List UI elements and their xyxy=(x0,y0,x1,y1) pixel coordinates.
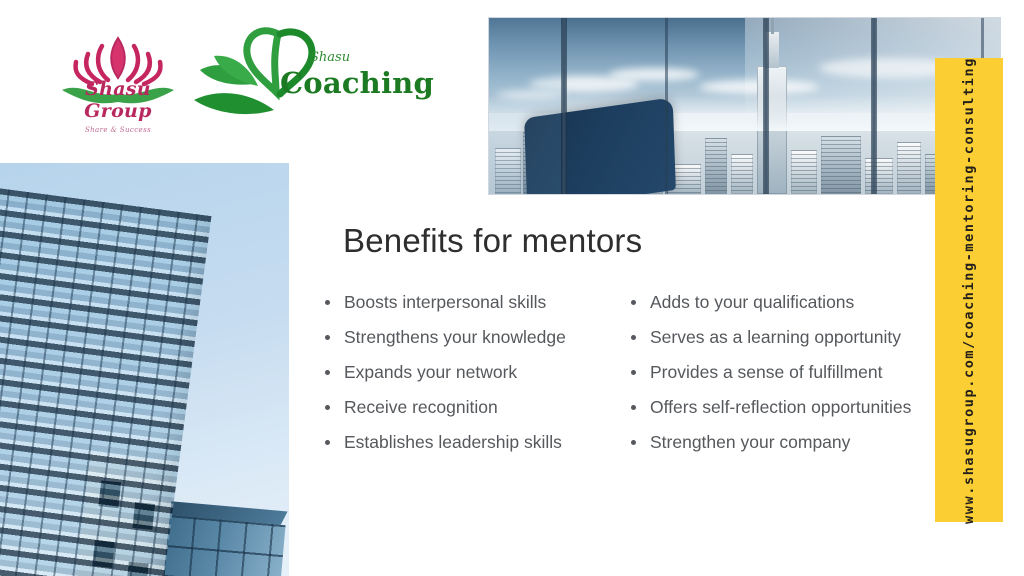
list-item: Expands your network xyxy=(322,358,590,387)
list-item: Boosts interpersonal skills xyxy=(322,288,590,317)
slide-canvas: www.shasugroup.com/coaching-mentoring-co… xyxy=(0,0,1024,576)
office-building-photo xyxy=(0,163,289,576)
page-title: Benefits for mentors xyxy=(343,222,642,260)
shasu-group-logo: Shasu Group Share & Success xyxy=(52,24,184,140)
website-url-banner: www.shasugroup.com/coaching-mentoring-co… xyxy=(935,58,1003,522)
benefits-left-list: Boosts interpersonal skills Strengthens … xyxy=(322,288,590,457)
list-item: Receive recognition xyxy=(322,393,590,422)
shasu-group-wordmark: Shasu Group xyxy=(54,78,182,122)
list-item: Offers self-reflection opportunities xyxy=(628,393,928,422)
website-url-text: www.shasugroup.com/coaching-mentoring-co… xyxy=(961,57,977,524)
list-item: Adds to your qualifications xyxy=(628,288,928,317)
list-item: Strengthen your company xyxy=(628,428,928,457)
logo-row: Shasu Group Share & Success Shasu Coachi… xyxy=(52,24,362,140)
list-item: Strengthens your knowledge xyxy=(322,323,590,352)
benefits-left-column: Boosts interpersonal skills Strengthens … xyxy=(322,288,590,463)
shasu-coaching-subword: Shasu xyxy=(310,50,350,65)
cityscape-photo xyxy=(489,18,1000,194)
benefits-right-list: Adds to your qualifications Serves as a … xyxy=(628,288,928,457)
list-item: Establishes leadership skills xyxy=(322,428,590,457)
list-item: Provides a sense of fulfillment xyxy=(628,358,928,387)
list-item: Serves as a learning opportunity xyxy=(628,323,928,352)
shasu-coaching-mainword: Coaching xyxy=(280,66,434,100)
benefits-right-column: Adds to your qualifications Serves as a … xyxy=(628,288,928,463)
shasu-group-tagline: Share & Success xyxy=(54,126,182,134)
shasu-coaching-logo: Shasu Coaching xyxy=(192,26,408,138)
